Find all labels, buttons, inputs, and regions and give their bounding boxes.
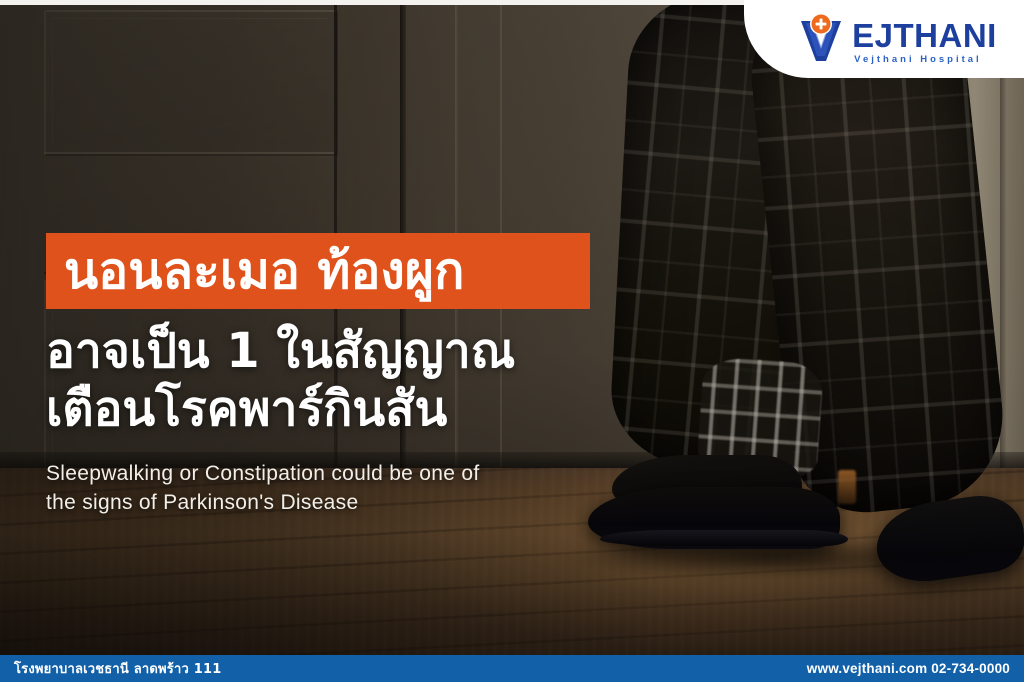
headline-line-2: อาจเป็น 1 ในสัญญาณ — [46, 324, 666, 378]
logo-tagline: Vejthani Hospital — [854, 55, 997, 65]
headline-highlight-band: นอนละเมอ ท้องผูก — [46, 233, 590, 309]
footer-hospital-name: โรงพยาบาลเวชธานี ลาดพร้าว 111 — [14, 658, 221, 679]
subtitle-line-2: the signs of Parkinson's Disease — [46, 488, 606, 517]
subtitle-line-1: Sleepwalking or Constipation could be on… — [46, 459, 606, 488]
footer-contact[interactable]: www.vejthani.com 02-734-0000 — [807, 661, 1010, 676]
subtitle-block: Sleepwalking or Constipation could be on… — [46, 459, 606, 517]
logo-v-with-cross-icon — [797, 13, 855, 65]
vejthani-logo: EJTHANI Vejthani Hospital — [797, 13, 997, 65]
logo-mark-icon — [797, 13, 855, 65]
logo-wordmark: EJTHANI — [852, 19, 997, 52]
footer-bar: โรงพยาบาลเวชธานี ลาดพร้าว 111 www.vejtha… — [0, 655, 1024, 682]
headline-line-3: เตือนโรคพาร์กินสัน — [46, 382, 666, 436]
logo-text-block: EJTHANI Vejthani Hospital — [852, 19, 997, 65]
logo-panel[interactable]: EJTHANI Vejthani Hospital — [744, 0, 1024, 78]
headline-line-1: นอนละเมอ ท้องผูก — [64, 231, 584, 311]
poster-canvas: EJTHANI Vejthani Hospital นอนละเมอ ท้องผ… — [0, 0, 1024, 682]
